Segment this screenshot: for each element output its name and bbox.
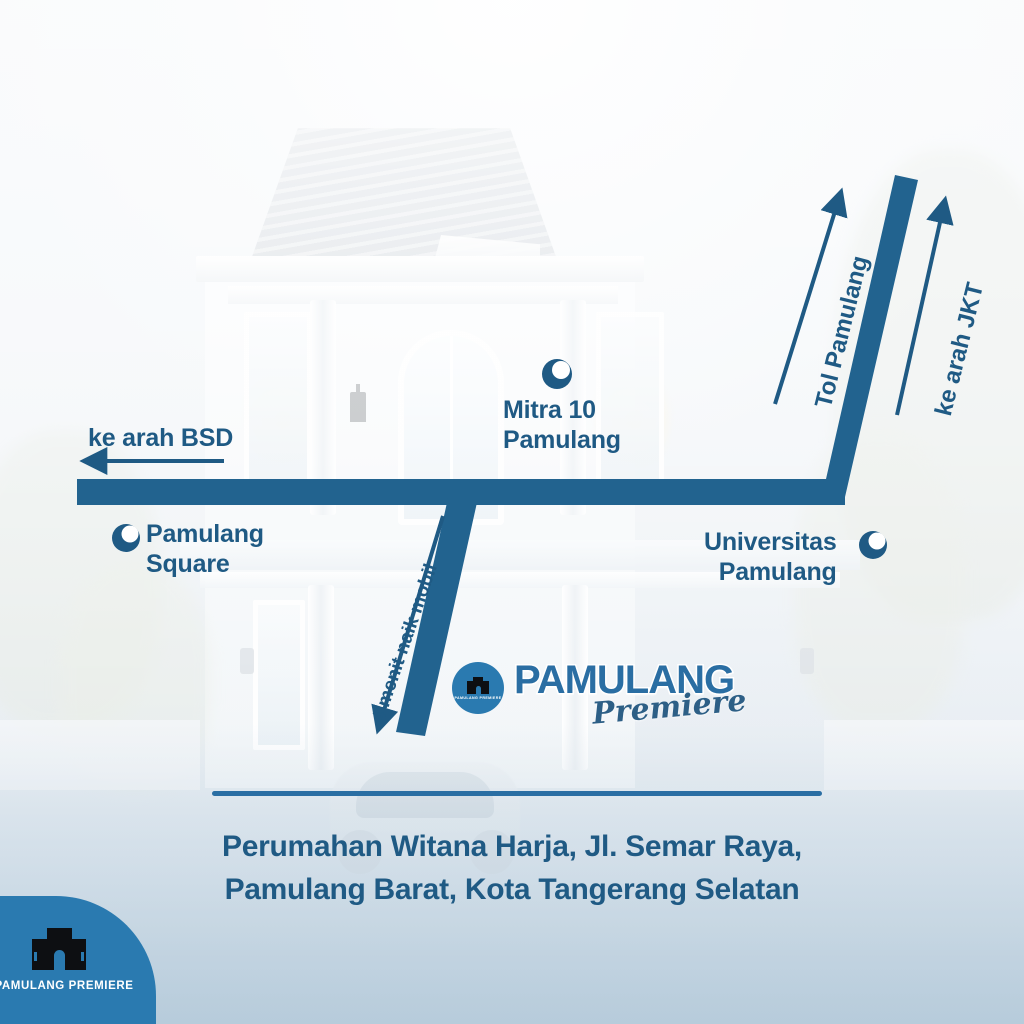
- divider-rule: [212, 791, 822, 796]
- landmark-label-mitra10: Mitra 10 Pamulang: [503, 396, 621, 455]
- road-main-horizontal: [77, 175, 918, 505]
- landmark-label-universitas-pamulang: Universitas Pamulang: [704, 528, 837, 587]
- landmark-pamsq-line1: Pamulang: [146, 520, 264, 548]
- map-overlay: ke arah BSD Mitra 10 Pamulang Pamulang S…: [0, 0, 1024, 1024]
- location-dot-universitas-pamulang-icon: [859, 531, 887, 559]
- landmark-unpam-line1: Universitas: [704, 528, 837, 556]
- address-line-2: Pamulang Barat, Kota Tangerang Selatan: [225, 873, 800, 906]
- gate-icon-post-left: [34, 952, 37, 961]
- direction-label-bsd: ke arah BSD: [88, 424, 233, 454]
- brand-logo-badge-text: PAMULANG PREMIERE: [454, 696, 501, 700]
- brand-logo-badge: PAMULANG PREMIERE: [452, 662, 504, 714]
- brand-logo-lockup: PAMULANG PREMIERE PAMULANG Premiere: [452, 658, 752, 730]
- address-block: Perumahan Witana Harja, Jl. Semar Raya, …: [0, 826, 1024, 911]
- corner-badge-label: PAMULANG PREMIERE: [0, 980, 134, 992]
- landmark-label-pamulang-square: Pamulang Square: [146, 520, 264, 579]
- gate-icon-post-right: [81, 952, 84, 961]
- landmark-mitra10-line2: Pamulang: [503, 426, 621, 454]
- landmark-pamsq-line2: Square: [146, 550, 230, 578]
- location-dot-mitra10-icon: [542, 359, 572, 389]
- gate-icon: [467, 677, 489, 694]
- location-dot-pamulang-square-icon: [112, 524, 140, 552]
- landmark-unpam-line2: Pamulang: [719, 558, 837, 586]
- gate-icon: [32, 928, 86, 970]
- landmark-mitra10-line1: Mitra 10: [503, 396, 596, 424]
- gate-icon-door: [54, 950, 65, 970]
- address-line-1: Perumahan Witana Harja, Jl. Semar Raya,: [222, 830, 802, 863]
